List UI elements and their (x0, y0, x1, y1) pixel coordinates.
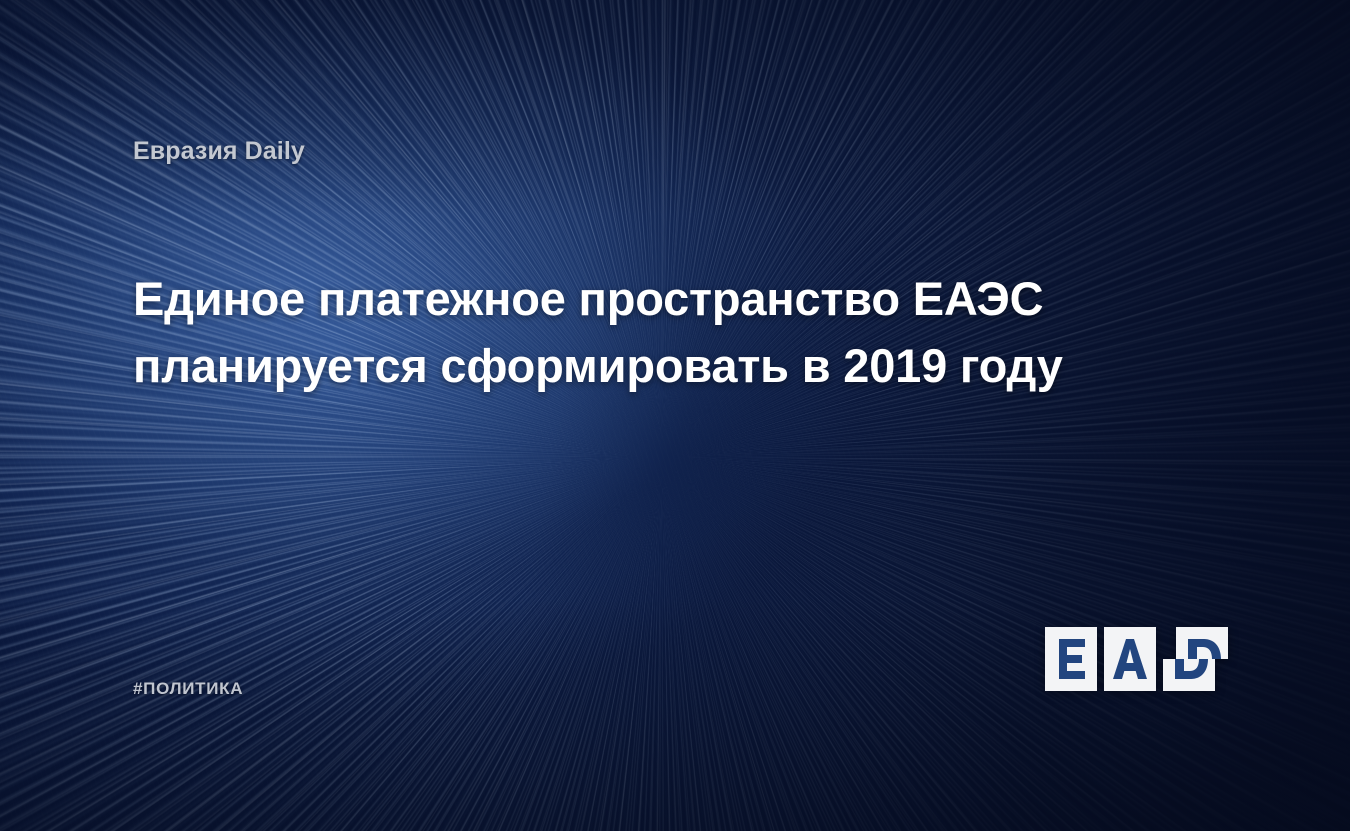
logo-letter-a-icon (1104, 627, 1156, 691)
eadaily-logo (1045, 627, 1215, 691)
logo-letter-e-icon (1045, 627, 1097, 691)
logo-tile-e (1045, 627, 1097, 691)
card-content: Евразия Daily Единое платежное пространс… (0, 0, 1350, 831)
logo-tile-d-bottom-half (1163, 659, 1215, 691)
news-share-card: Евразия Daily Единое платежное пространс… (0, 0, 1350, 831)
logo-tile-d (1163, 627, 1215, 691)
site-name: Евразия Daily (133, 137, 305, 166)
category-tag: #ПОЛИТИКА (133, 679, 243, 699)
logo-tile-a (1104, 627, 1156, 691)
logo-letter-d-icon (1163, 659, 1215, 691)
headline: Единое платежное пространство ЕАЭС плани… (133, 266, 1223, 399)
